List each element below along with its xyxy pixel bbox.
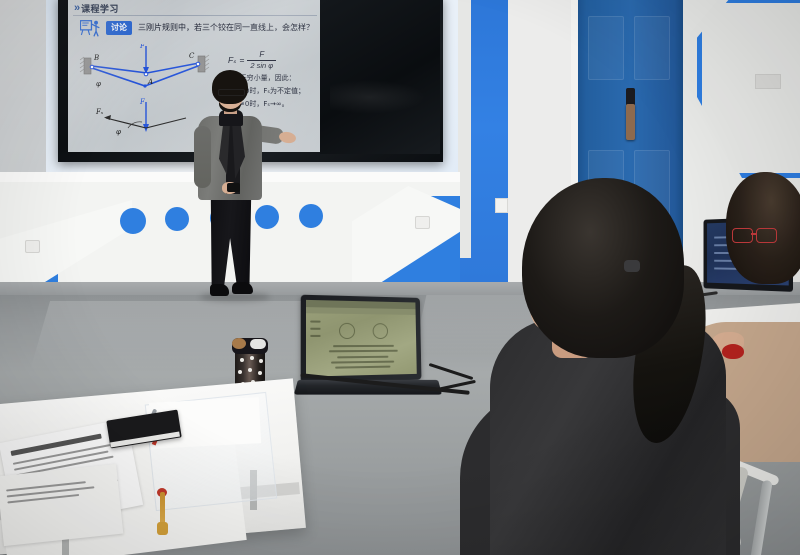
tassel-bead bbox=[157, 522, 168, 535]
paper-stack-lower[interactable] bbox=[0, 464, 123, 546]
document-seal-left bbox=[339, 323, 355, 339]
teacher-shoe-right bbox=[232, 282, 253, 294]
chair-leg bbox=[749, 480, 772, 555]
teacher-arm-left bbox=[194, 126, 211, 188]
blackboard-panel bbox=[320, 0, 440, 154]
podium-dot-5 bbox=[299, 204, 323, 228]
teacher-glasses-icon bbox=[218, 89, 245, 96]
seated-attendee-front bbox=[490, 178, 720, 555]
wall-outlet-2[interactable] bbox=[415, 216, 430, 229]
document-ribbon bbox=[306, 307, 416, 315]
thermos-cap-detail bbox=[232, 338, 246, 349]
teacher-shoe-left bbox=[210, 284, 229, 296]
red-wireless-mouse[interactable] bbox=[722, 344, 744, 359]
attendee-front-hair-tie bbox=[624, 260, 640, 272]
teacher-hair bbox=[212, 70, 248, 104]
classroom-photo-scene: » 课程学习 讨论 三刚片规则中，若三个铰在同一直线上，会怎样？ bbox=[0, 0, 800, 555]
teacher-trousers bbox=[208, 194, 254, 290]
door-panel-tr bbox=[634, 16, 670, 80]
wall-sign-plate bbox=[755, 74, 781, 89]
center-laptop-screen[interactable] bbox=[306, 300, 417, 377]
blackboard-smudge bbox=[330, 80, 426, 114]
presenting-teacher bbox=[186, 70, 272, 302]
document-seal-right bbox=[373, 323, 389, 339]
door-panel-tl bbox=[588, 16, 624, 80]
attendee-front-hair bbox=[522, 178, 684, 358]
door-handle[interactable] bbox=[626, 104, 635, 140]
wall-outlet-1[interactable] bbox=[25, 240, 40, 253]
podium-dot-1 bbox=[120, 208, 146, 234]
thermos-lid-white bbox=[250, 339, 266, 349]
presentation-clicker[interactable] bbox=[227, 183, 240, 192]
attendee-right-glasses-icon bbox=[732, 228, 776, 241]
